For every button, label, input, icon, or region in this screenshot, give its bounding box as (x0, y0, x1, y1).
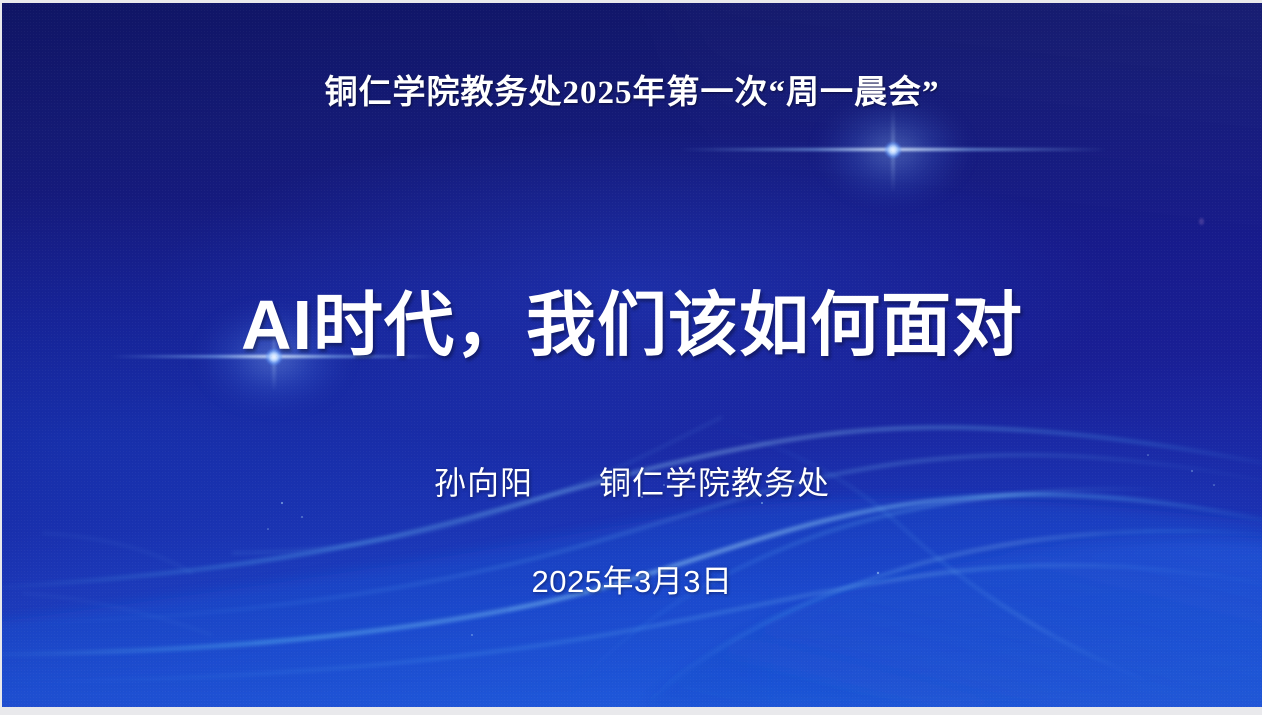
lens-flare-icon (892, 149, 893, 150)
slide-header-text: 铜仁学院教务处2025年第一次“周一晨会” (2, 65, 1262, 113)
slide-frame: 铜仁学院教务处2025年第一次“周一晨会” AI时代，我们该如何面对 孙向阳 铜… (0, 0, 1262, 715)
presentation-slide[interactable]: 铜仁学院教务处2025年第一次“周一晨会” AI时代，我们该如何面对 孙向阳 铜… (2, 3, 1262, 707)
slide-presenter-line: 孙向阳 铜仁学院教务处 (2, 458, 1262, 504)
slide-date: 2025年3月3日 (2, 556, 1262, 601)
slide-main-title: AI时代，我们该如何面对 (2, 288, 1262, 362)
background-speck (1199, 218, 1204, 225)
background-wave-artwork (2, 377, 1262, 707)
